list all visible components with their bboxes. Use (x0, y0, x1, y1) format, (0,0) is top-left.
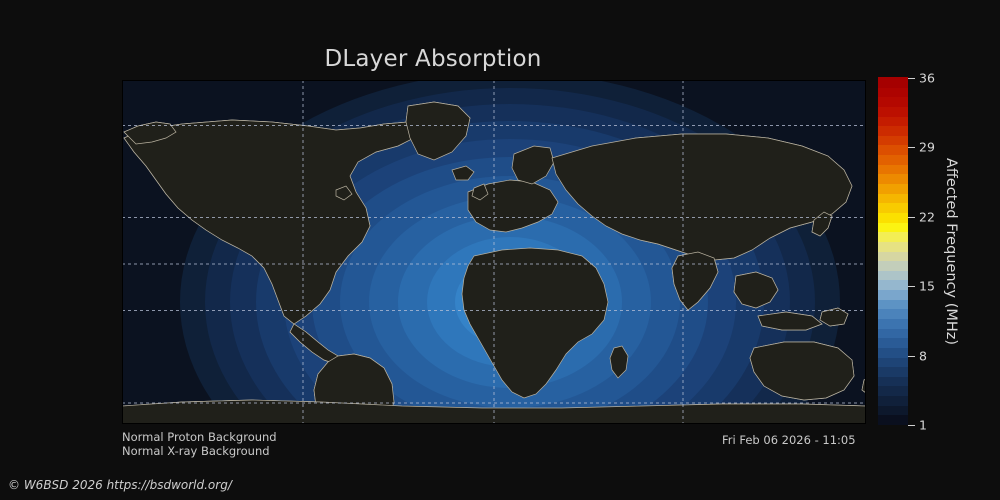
colorbar-segment (878, 155, 908, 165)
colorbar-segment (878, 261, 908, 271)
colorbar-segment (878, 232, 908, 242)
colorbar-tick-label: 15 (919, 279, 935, 294)
colorbar-segment (878, 106, 908, 116)
colorbar-tick-mark (908, 286, 915, 287)
colorbar-tick-mark (908, 217, 915, 218)
colorbar-tick-mark (908, 425, 915, 426)
colorbar-segment (878, 338, 908, 348)
colorbar-segment (878, 203, 908, 213)
colorbar-segment (878, 367, 908, 377)
colorbar-segment (878, 116, 908, 126)
copyright-notice: © W6BSD 2026 https://bsdworld.org/ (8, 478, 232, 492)
proton-background-status: Normal Proton Background (122, 430, 277, 444)
colorbar-segment (878, 212, 908, 222)
colorbar-segment (878, 135, 908, 145)
colorbar-segment (878, 251, 908, 261)
colorbar-segment (878, 280, 908, 290)
colorbar-segment (878, 328, 908, 338)
colorbar-gradient (878, 78, 908, 425)
colorbar-segment (878, 126, 908, 136)
world-map-plot[interactable] (122, 80, 866, 424)
colorbar-tick-label: 36 (919, 71, 935, 86)
colorbar-segment (878, 405, 908, 415)
map-svg (122, 80, 866, 424)
colorbar-segment (878, 77, 908, 87)
colorbar-segment (878, 183, 908, 193)
colorbar-segment (878, 241, 908, 251)
colorbar-segment (878, 97, 908, 107)
colorbar-tick-label: 22 (919, 209, 935, 224)
colorbar-tick-mark (908, 147, 915, 148)
xray-background-status: Normal X-ray Background (122, 444, 270, 458)
colorbar-tick-mark (908, 78, 915, 79)
colorbar-segment (878, 174, 908, 184)
colorbar-axis-title: Affected Frequency (MHz) (940, 78, 962, 425)
colorbar-segment (878, 299, 908, 309)
colorbar-segment (878, 347, 908, 357)
colorbar-segment (878, 309, 908, 319)
colorbar-tick-label: 29 (919, 140, 935, 155)
chart-title: DLayer Absorption (0, 46, 866, 72)
colorbar-tick-label: 1 (919, 418, 927, 433)
colorbar-segment (878, 145, 908, 155)
colorbar-segment (878, 164, 908, 174)
colorbar-tick-label: 8 (919, 348, 927, 363)
colorbar-segment (878, 415, 908, 425)
colorbar-segment (878, 87, 908, 97)
colorbar-segment (878, 270, 908, 280)
timestamp-label: Fri Feb 06 2026 - 11:05 (722, 433, 856, 447)
colorbar-segment (878, 386, 908, 396)
figure-canvas: DLayer Absorption (0, 0, 1000, 500)
colorbar-segment (878, 376, 908, 386)
colorbar-segment (878, 222, 908, 232)
colorbar-segment (878, 193, 908, 203)
colorbar-tick-mark (908, 356, 915, 357)
colorbar-segment (878, 396, 908, 406)
colorbar-segment (878, 318, 908, 328)
colorbar-segment (878, 289, 908, 299)
colorbar-segment (878, 357, 908, 367)
colorbar[interactable]: 1815222936 Max (878, 78, 908, 425)
